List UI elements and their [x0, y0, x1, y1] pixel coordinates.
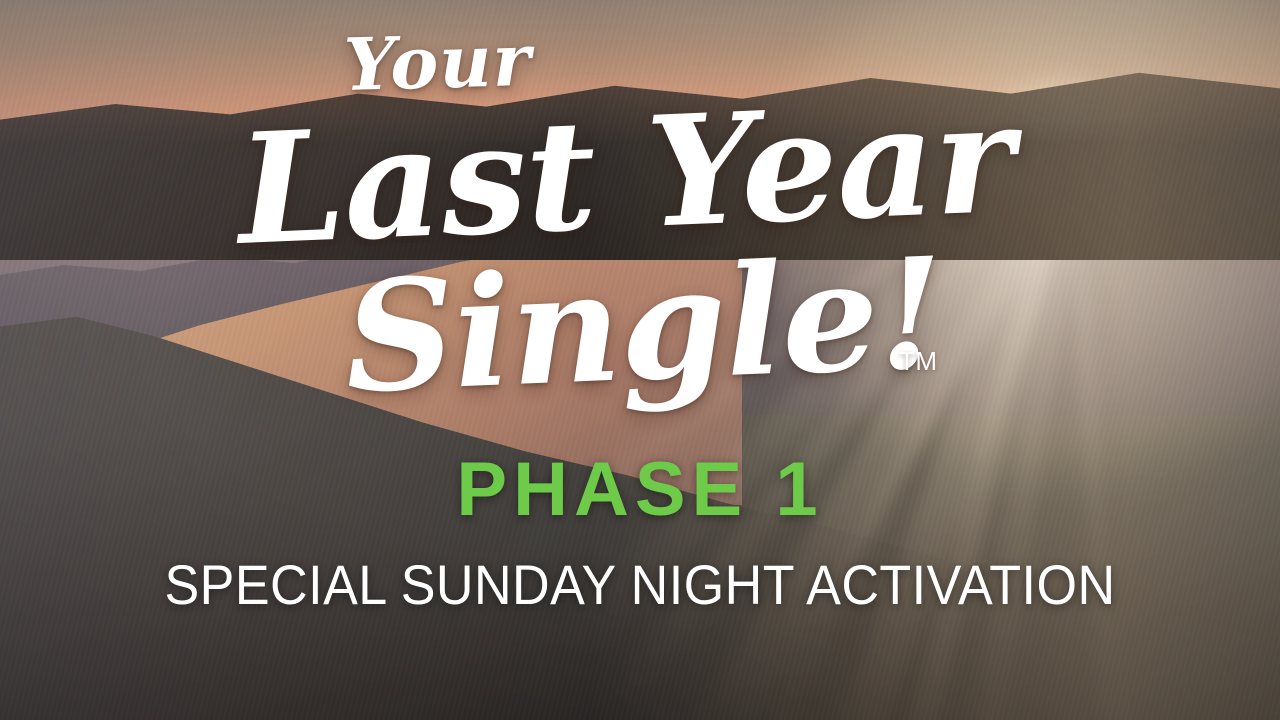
- phase-heading: PHASE 1: [0, 452, 1280, 528]
- brand-logo: Your Last Year Single! TM: [0, 8, 1280, 408]
- trademark-symbol: TM: [899, 346, 938, 377]
- logo-line-single: Single!: [341, 223, 946, 427]
- subtitle-text: SPECIAL SUNDAY NIGHT ACTIVATION: [45, 557, 1235, 613]
- slide-content: Your Last Year Single! TM PHASE 1 SPECIA…: [0, 0, 1280, 720]
- title-slide: Your Last Year Single! TM PHASE 1 SPECIA…: [0, 0, 1280, 720]
